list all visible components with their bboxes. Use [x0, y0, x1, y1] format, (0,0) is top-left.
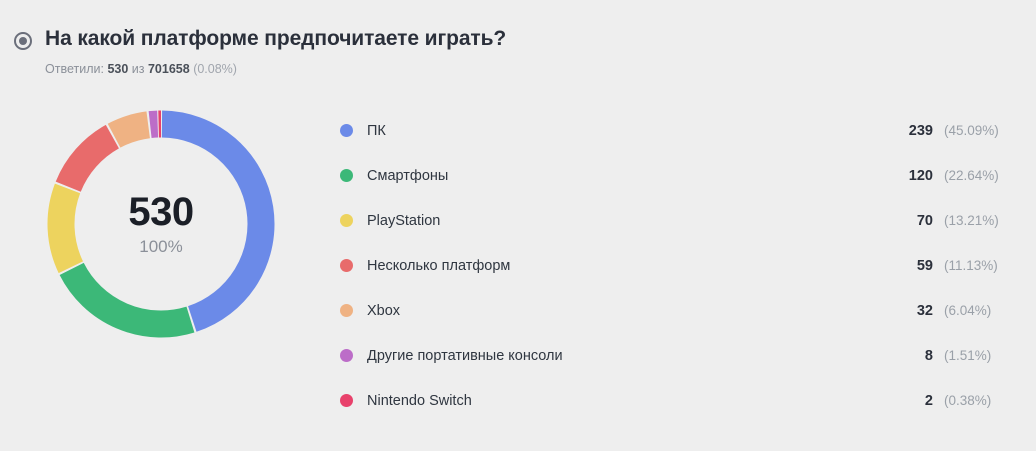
legend-color-dot [340, 259, 353, 272]
poll-header: На какой платформе предпочитаете играть?… [0, 26, 506, 77]
poll-result-card: На какой платформе предпочитаете играть?… [0, 0, 1036, 451]
legend-color-dot [340, 394, 353, 407]
donut-ring [47, 110, 275, 338]
legend-color-dot [340, 349, 353, 362]
legend-item-percent: (45.09%) [944, 123, 1018, 138]
legend-item-label: ПК [367, 123, 386, 139]
legend-item-percent: (0.38%) [944, 393, 1018, 408]
legend-item-count: 32 [917, 303, 933, 319]
legend-item-count: 120 [909, 168, 933, 184]
answered-share: (0.08%) [193, 62, 237, 76]
donut-slice[interactable] [68, 137, 112, 187]
legend-item[interactable]: Nintendo Switch2(0.38%) [340, 378, 1018, 423]
poll-answered-summary: Ответили: 530 из 701658 (0.08%) [45, 61, 506, 77]
legend-item-count: 8 [925, 348, 933, 364]
legend-item-label: Несколько платформ [367, 258, 510, 274]
of-word: из [132, 62, 145, 76]
legend-item-label: Смартфоны [367, 168, 448, 184]
legend-item-label: Nintendo Switch [367, 393, 472, 409]
legend-item-label: PlayStation [367, 213, 440, 229]
legend-color-dot [340, 124, 353, 137]
donut-slice[interactable] [72, 269, 191, 324]
legend-item[interactable]: Несколько платформ59(11.13%) [340, 243, 1018, 288]
legend-item[interactable]: Другие портативные консоли8(1.51%) [340, 333, 1018, 378]
legend-list: ПК239(45.09%)Смартфоны120(22.64%)PlaySta… [340, 108, 1018, 423]
legend-item[interactable]: Xbox32(6.04%) [340, 288, 1018, 333]
legend-item-count: 70 [917, 213, 933, 229]
donut-slices [61, 124, 261, 324]
donut-svg [47, 110, 275, 338]
legend-item-count: 59 [917, 258, 933, 274]
legend-item-label: Другие портативные консоли [367, 348, 563, 364]
donut-slice[interactable] [114, 125, 148, 136]
answered-count: 530 [107, 62, 128, 76]
donut-slice[interactable] [61, 188, 71, 267]
donut-slice[interactable] [162, 124, 261, 319]
legend-item[interactable]: Смартфоны120(22.64%) [340, 153, 1018, 198]
legend-item-percent: (6.04%) [944, 303, 1018, 318]
donut-slice[interactable] [150, 124, 158, 125]
donut-chart: 530 100% [0, 104, 270, 344]
legend-item-count: 2 [925, 393, 933, 409]
legend-item-percent: (13.21%) [944, 213, 1018, 228]
legend-item-percent: (11.13%) [944, 258, 1018, 273]
legend-item[interactable]: ПК239(45.09%) [340, 108, 1018, 153]
legend-item-percent: (22.64%) [944, 168, 1018, 183]
radio-selected-icon [14, 32, 32, 50]
legend-color-dot [340, 304, 353, 317]
legend-item-count: 239 [909, 123, 933, 139]
total-audience: 701658 [148, 62, 190, 76]
legend-color-dot [340, 169, 353, 182]
legend-item-percent: (1.51%) [944, 348, 1018, 363]
poll-body: 530 100% ПК239(45.09%)Смартфоны120(22.64… [0, 104, 1036, 423]
poll-header-text: На какой платформе предпочитаете играть?… [45, 26, 506, 77]
page-title: На какой платформе предпочитаете играть? [45, 26, 506, 52]
legend-item[interactable]: PlayStation70(13.21%) [340, 198, 1018, 243]
answered-label: Ответили: [45, 62, 104, 76]
legend-color-dot [340, 214, 353, 227]
legend-item-label: Xbox [367, 303, 400, 319]
